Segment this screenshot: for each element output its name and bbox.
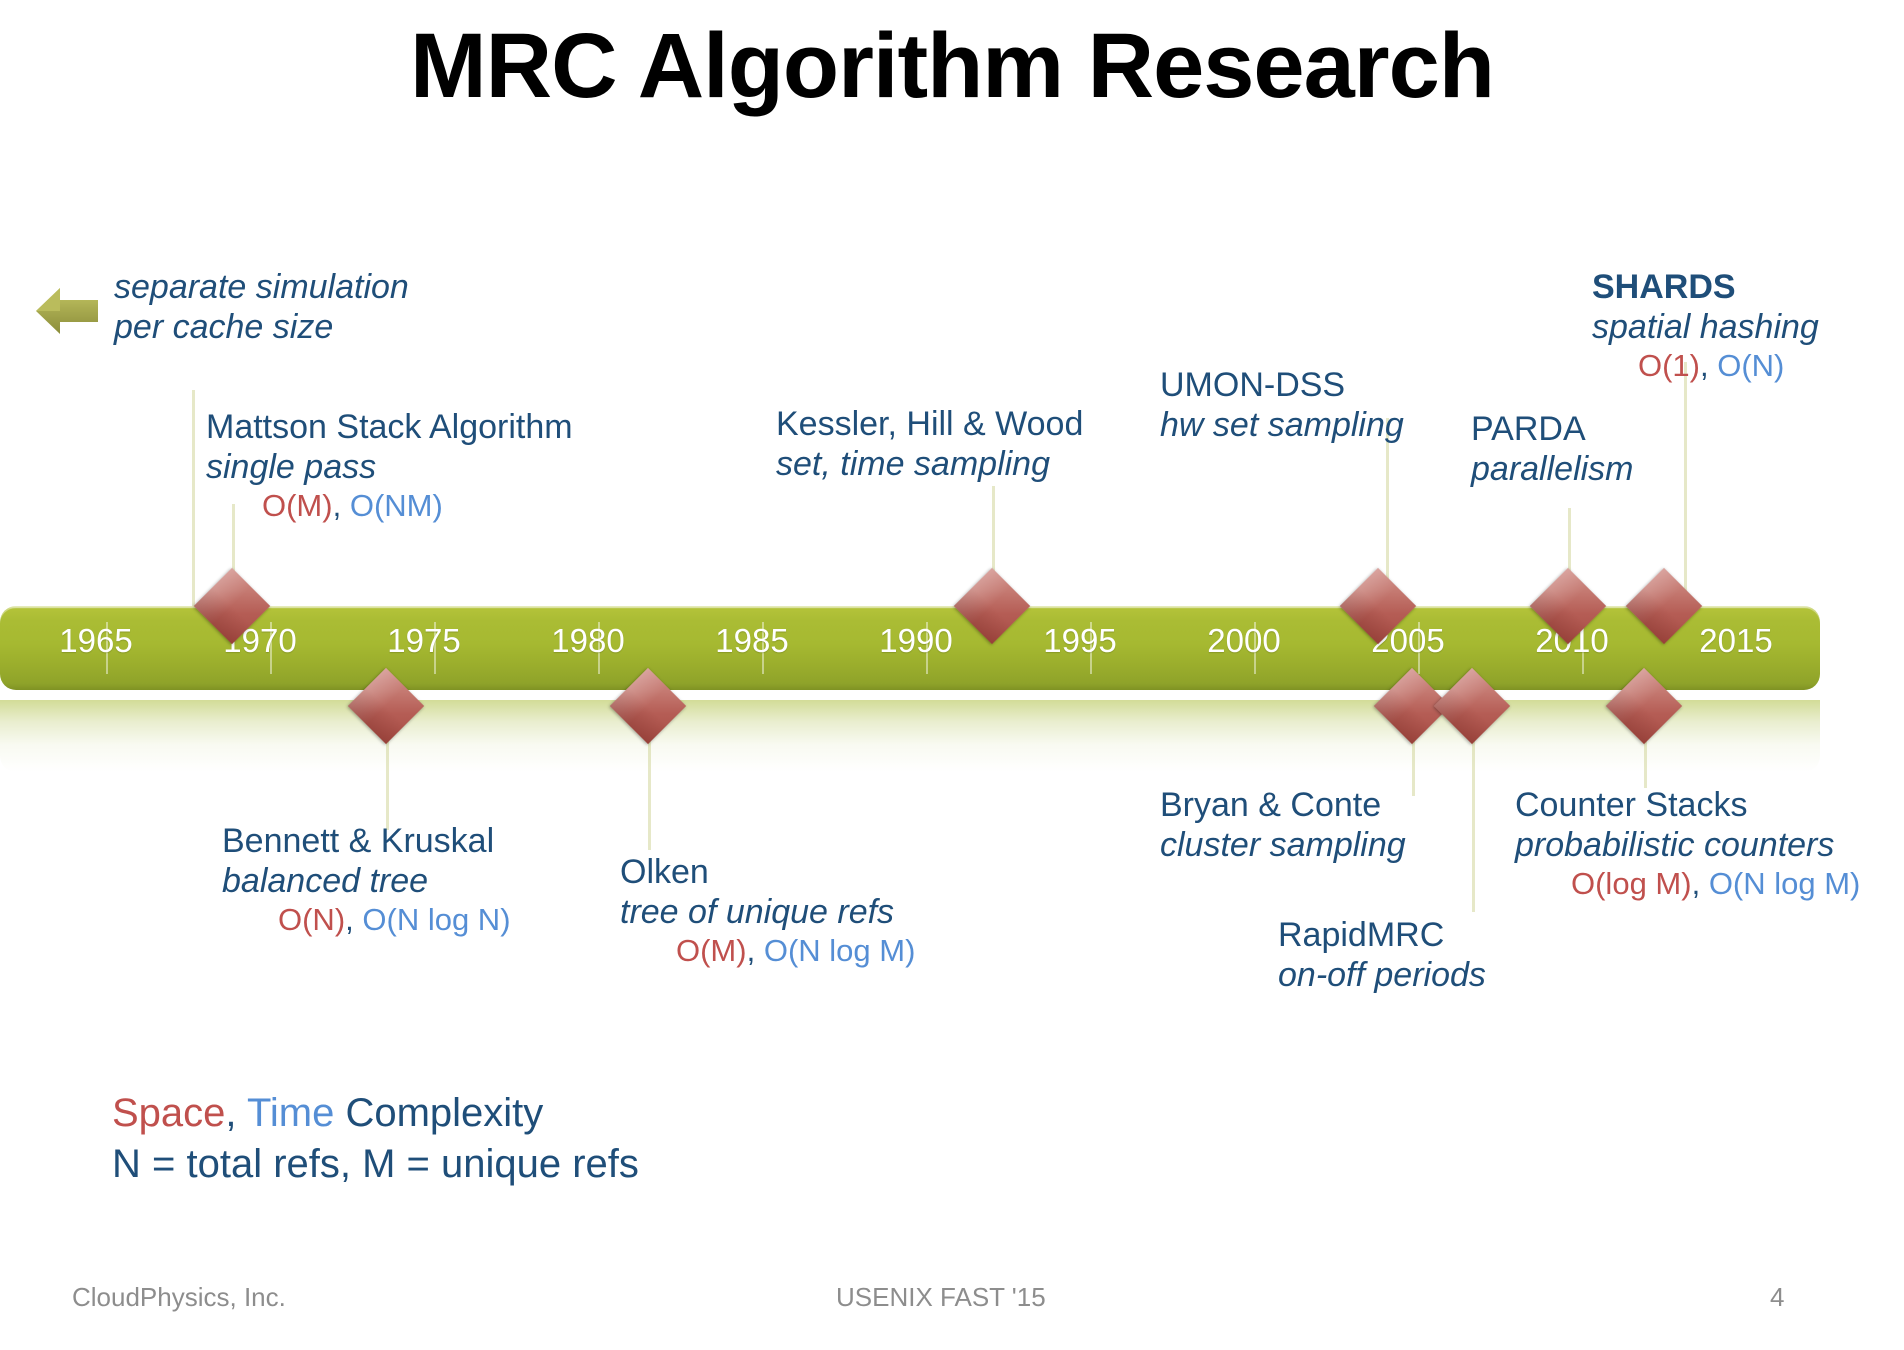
entry-label-bryan: Bryan & Conte cluster sampling <box>1160 786 1406 866</box>
complexity-time: O(N log M) <box>764 933 916 968</box>
entry-name-counterstacks: Counter Stacks <box>1515 786 1860 826</box>
legend-line-1: Space, Time Complexity <box>112 1088 639 1139</box>
complexity-time: O(N) <box>1717 348 1784 383</box>
timeline-year-2015: 2015 <box>1699 622 1772 660</box>
entry-name-umon: UMON-DSS <box>1160 366 1404 406</box>
annotation-line-2: per cache size <box>114 308 409 348</box>
timeline-year-1975: 1975 <box>387 622 460 660</box>
annotation-separate-simulation: separate simulation per cache size <box>114 268 409 348</box>
entry-label-shards: SHARDS spatial hashing O(1), O(N) <box>1592 268 1819 384</box>
legend-line-2: N = total refs, M = unique refs <box>112 1139 639 1190</box>
complexity-space: O(M) <box>262 488 333 523</box>
entry-complexity-mattson: O(M), O(NM) <box>206 488 573 524</box>
entry-complexity-olken: O(M), O(N log M) <box>620 933 915 969</box>
leader-line-annotation <box>192 390 195 610</box>
entry-desc-olken: tree of unique refs <box>620 893 915 933</box>
complexity-time: O(N log M) <box>1709 866 1861 901</box>
entry-desc-counterstacks: probabilistic counters <box>1515 826 1860 866</box>
entry-name-shards: SHARDS <box>1592 268 1819 308</box>
entry-label-parda: PARDA parallelism <box>1471 410 1634 490</box>
complexity-time: O(NM) <box>350 488 443 523</box>
timeline-year-1985: 1985 <box>715 622 788 660</box>
complexity-legend: Space, Time Complexity N = total refs, M… <box>112 1088 639 1190</box>
slide-canvas: MRC Algorithm Research separate simulati… <box>0 0 1904 1350</box>
timeline-year-1990: 1990 <box>879 622 952 660</box>
legend-comma: , <box>225 1091 247 1135</box>
complexity-space: O(1) <box>1638 348 1700 383</box>
timeline-year-1965: 1965 <box>59 622 132 660</box>
complexity-space: O(M) <box>676 933 747 968</box>
entry-name-olken: Olken <box>620 853 915 893</box>
legend-space-word: Space <box>112 1091 225 1135</box>
timeline-year-1980: 1980 <box>551 622 624 660</box>
entry-name-bryan: Bryan & Conte <box>1160 786 1406 826</box>
entry-label-olken: Olken tree of unique refs O(M), O(N log … <box>620 853 915 969</box>
entry-label-rapidmrc: RapidMRC on-off periods <box>1278 916 1486 996</box>
legend-complexity-word: Complexity <box>334 1091 543 1135</box>
timeline-bar-reflection <box>0 700 1820 772</box>
entry-complexity-counterstacks: O(log M), O(N log M) <box>1515 866 1860 902</box>
entry-desc-shards: spatial hashing <box>1592 308 1819 348</box>
legend-time-word: Time <box>247 1091 334 1135</box>
timeline-year-2000: 2000 <box>1207 622 1280 660</box>
entry-desc-bryan: cluster sampling <box>1160 826 1406 866</box>
entry-desc-parda: parallelism <box>1471 450 1634 490</box>
complexity-space: O(N) <box>278 902 345 937</box>
footer-company: CloudPhysics, Inc. <box>72 1282 286 1313</box>
entry-desc-mattson: single pass <box>206 448 573 488</box>
entry-desc-kessler: set, time sampling <box>776 445 1083 485</box>
entry-label-mattson: Mattson Stack Algorithm single pass O(M)… <box>206 408 573 524</box>
page-title: MRC Algorithm Research <box>0 18 1904 115</box>
complexity-time: O(N log N) <box>362 902 510 937</box>
left-arrow-icon <box>36 286 98 336</box>
complexity-space: O(log M) <box>1571 866 1692 901</box>
entry-desc-umon: hw set sampling <box>1160 406 1404 446</box>
entry-label-bennett: Bennett & Kruskal balanced tree O(N), O(… <box>222 822 511 938</box>
annotation-line-1: separate simulation <box>114 268 409 308</box>
entry-name-kessler: Kessler, Hill & Wood <box>776 405 1083 445</box>
entry-name-mattson: Mattson Stack Algorithm <box>206 408 573 448</box>
entry-name-rapidmrc: RapidMRC <box>1278 916 1486 956</box>
footer-venue: USENIX FAST '15 <box>836 1282 1046 1313</box>
entry-desc-rapidmrc: on-off periods <box>1278 956 1486 996</box>
entry-complexity-shards: O(1), O(N) <box>1592 348 1819 384</box>
timeline-year-1995: 1995 <box>1043 622 1116 660</box>
leader-line-shards <box>1684 362 1687 612</box>
footer-page-number: 4 <box>1770 1282 1784 1313</box>
entry-desc-bennett: balanced tree <box>222 862 511 902</box>
entry-label-kessler: Kessler, Hill & Wood set, time sampling <box>776 405 1083 485</box>
entry-name-parda: PARDA <box>1471 410 1634 450</box>
entry-name-bennett: Bennett & Kruskal <box>222 822 511 862</box>
entry-label-counterstacks: Counter Stacks probabilistic counters O(… <box>1515 786 1860 902</box>
entry-label-umon: UMON-DSS hw set sampling <box>1160 366 1404 446</box>
entry-complexity-bennett: O(N), O(N log N) <box>222 902 511 938</box>
